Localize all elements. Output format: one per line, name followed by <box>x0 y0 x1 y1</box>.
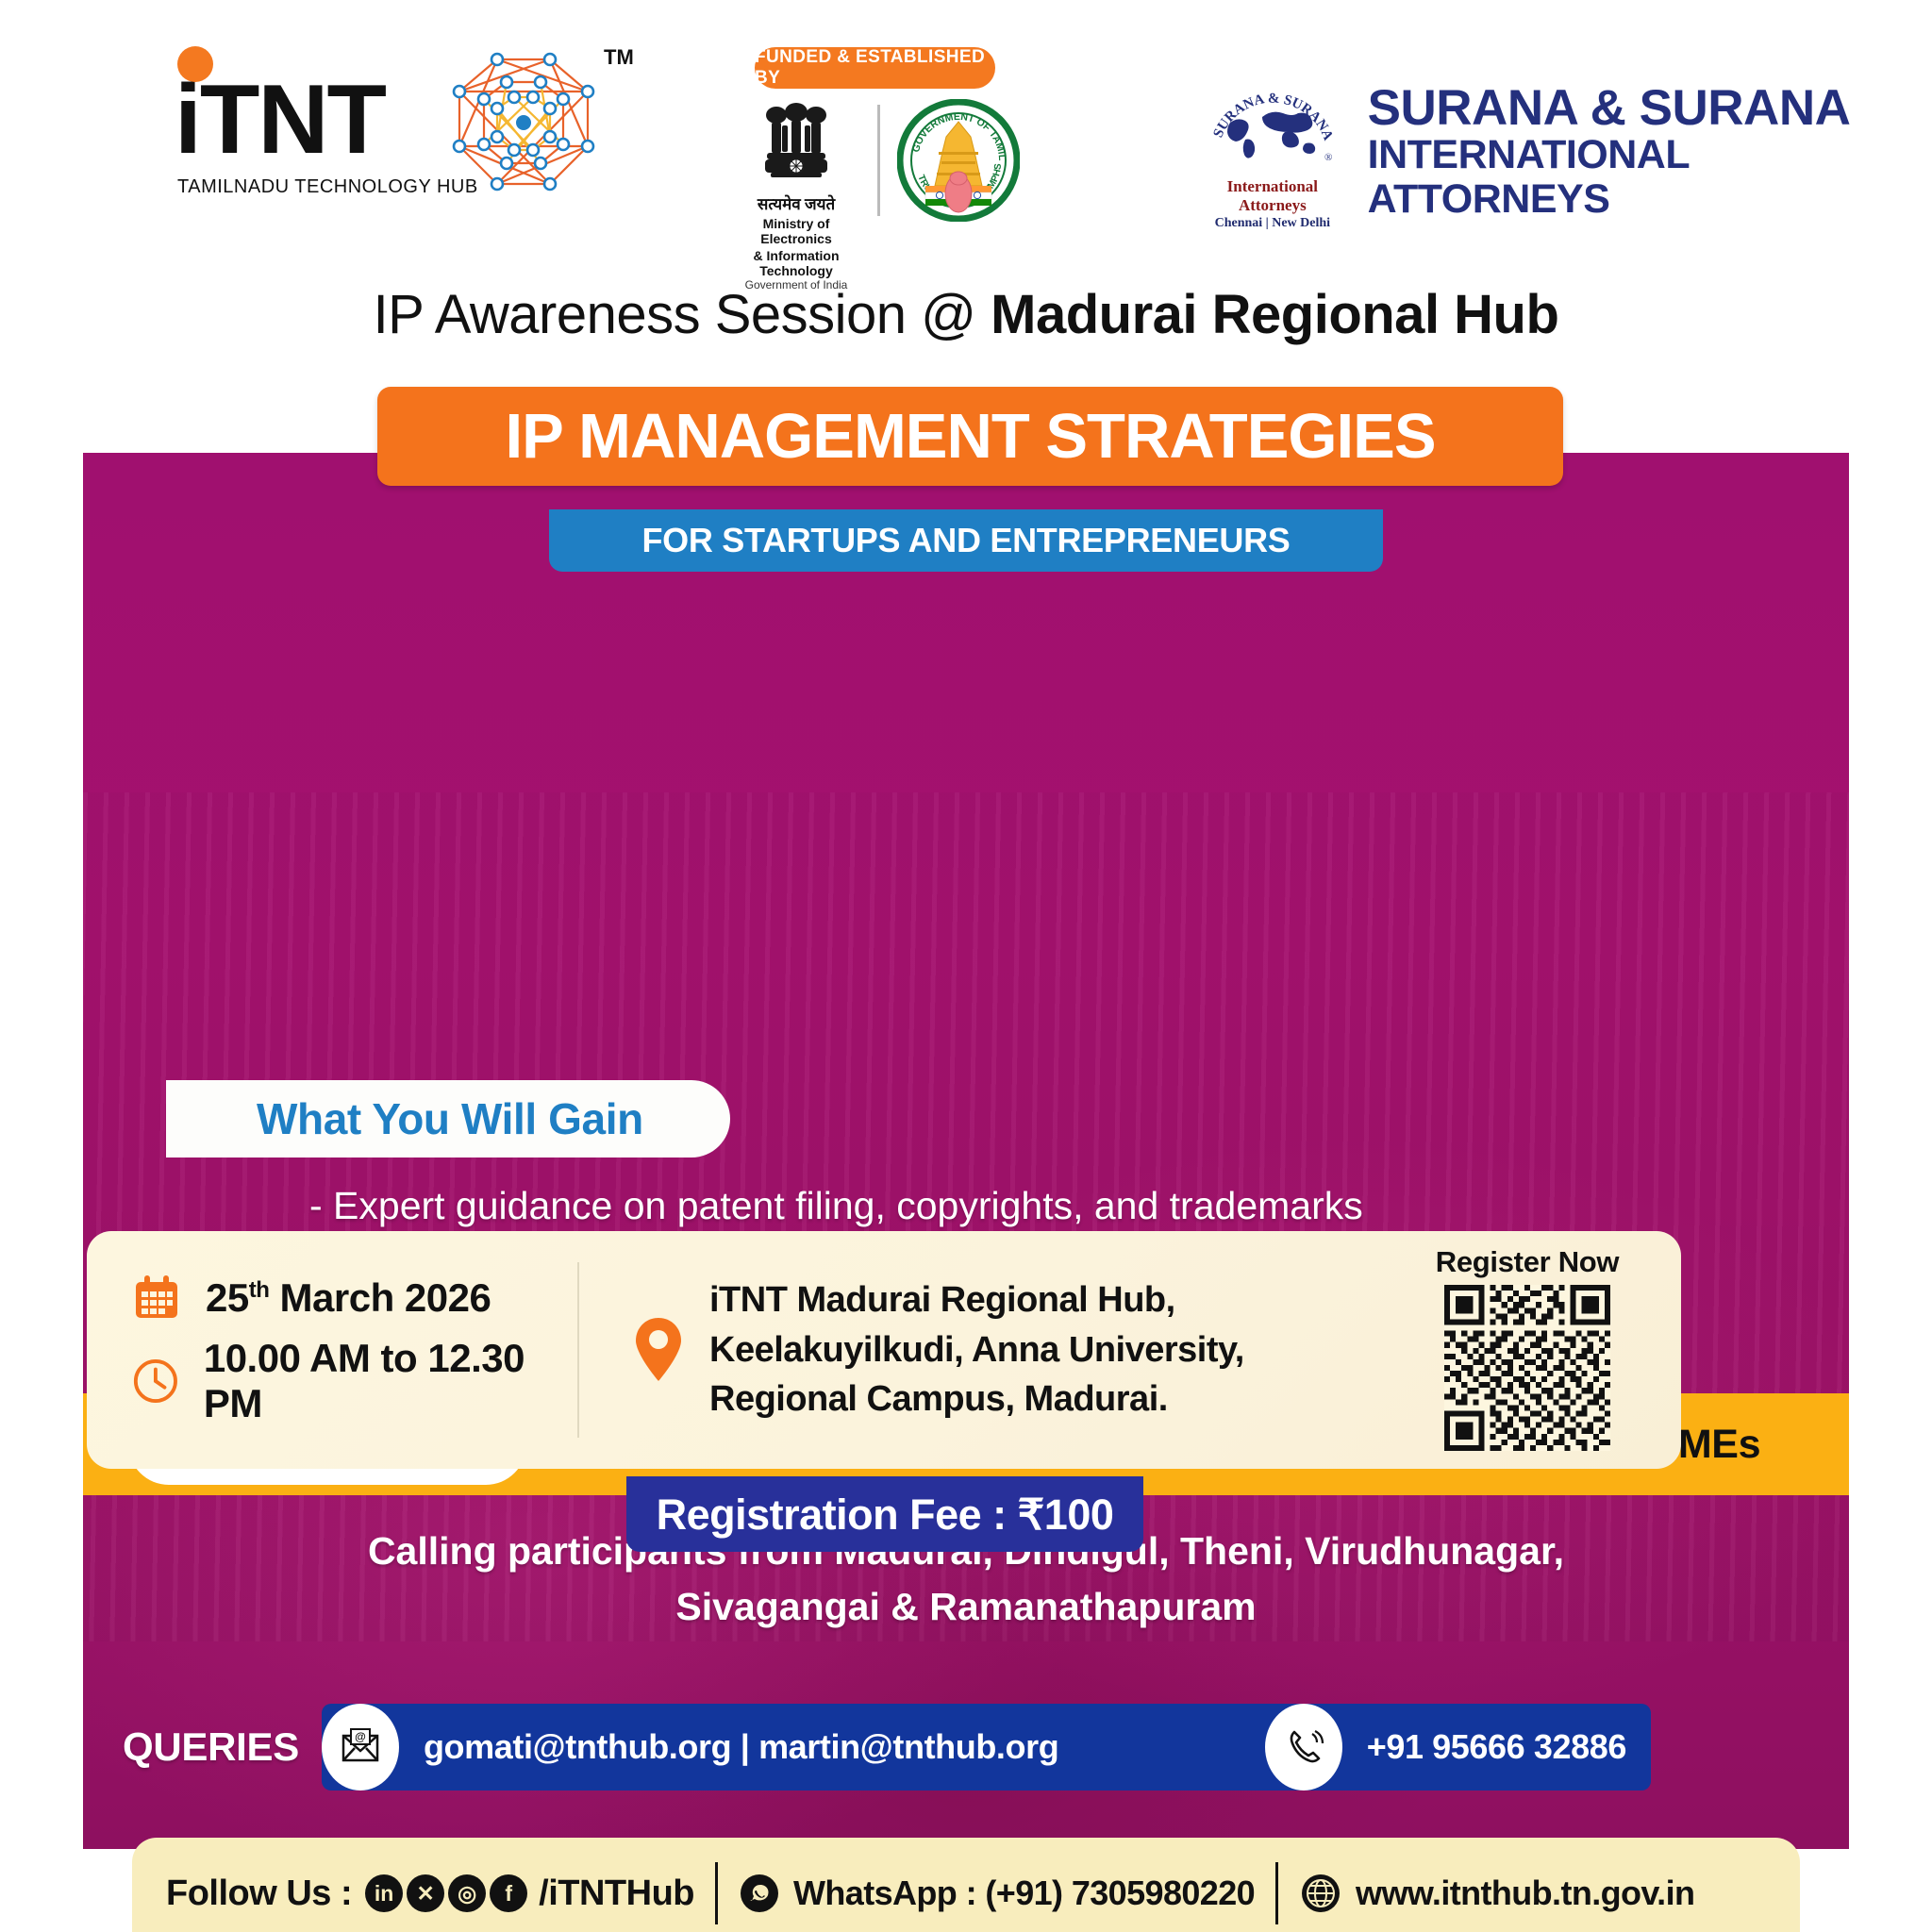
registration-fee-banner: Registration Fee : ₹100 <box>626 1476 1143 1552</box>
facebook-icon[interactable]: f <box>490 1874 527 1912</box>
venue-line-1: iTNT Madurai Regional Hub, <box>709 1275 1244 1324</box>
website-url[interactable]: www.itnthub.tn.gov.in <box>1356 1874 1694 1913</box>
event-details-card: 25th March 2026 10.00 AM to 12.30 PM iTN… <box>87 1231 1681 1469</box>
event-date: 25th March 2026 <box>206 1275 491 1321</box>
event-date-rest: March 2026 <box>269 1275 491 1320</box>
queries-label: QUERIES <box>123 1724 299 1770</box>
event-time: 10.00 AM to 12.30 PM <box>204 1336 577 1426</box>
surana-logo: SURANA & SURANA ® International Attorney… <box>1198 74 1932 231</box>
queries-section: QUERIES @ gomati@tnthub.org | martin@tnt… <box>123 1698 1651 1796</box>
instagram-icon[interactable]: ◎ <box>448 1874 486 1912</box>
queries-phone[interactable]: +91 95666 32886 <box>1367 1727 1626 1767</box>
funded-badge-label: FUNDED & ESTABLISHED BY <box>755 47 995 89</box>
footer-divider <box>715 1862 718 1924</box>
footer-bar: Follow Us : in ✕ ◎ f /iTNTHub WhatsApp :… <box>132 1838 1800 1932</box>
date-row: 25th March 2026 <box>132 1274 577 1323</box>
page-title-bold: Madurai Regional Hub <box>991 284 1558 345</box>
page-title-light: IP Awareness Session @ <box>374 284 991 345</box>
time-row: 10.00 AM to 12.30 PM <box>132 1336 577 1426</box>
whatsapp-icon <box>739 1873 780 1914</box>
clock-icon <box>132 1357 179 1406</box>
calendar-icon <box>132 1274 181 1323</box>
date-time-block: 25th March 2026 10.00 AM to 12.30 PM <box>87 1260 577 1440</box>
follow-us-label: Follow Us : <box>166 1874 352 1914</box>
subheadline-banner: FOR STARTUPS AND ENTREPRENEURS <box>549 509 1383 572</box>
ministry-line-2: & Information Technology <box>726 248 866 278</box>
venue-line-2: Keelakuyilkudi, Anna University, <box>709 1325 1244 1374</box>
government-emblems: सत्यमेव जयते Ministry of Electronics & I… <box>726 99 1028 250</box>
calling-line-2: Sivagangai & Ramanathapuram <box>83 1579 1849 1635</box>
event-date-day: 25 <box>206 1275 249 1320</box>
linkedin-icon[interactable]: in <box>365 1874 403 1912</box>
queries-bar: @ gomati@tnthub.org | martin@tnthub.org … <box>322 1704 1651 1790</box>
list-item: - Expert guidance on patent filing, copy… <box>309 1184 1724 1229</box>
surana-wordmark: SURANA & SURANA INTERNATIONAL ATTORNEYS <box>1368 83 1932 223</box>
what-you-will-gain-pill: What You Will Gain <box>166 1080 730 1158</box>
main-content-panel: What You Will Gain - Expert guidance on … <box>83 453 1849 1849</box>
surana-seal-cities: Chennai | New Delhi <box>1198 216 1347 231</box>
funded-badge: FUNDED & ESTABLISHED BY <box>755 47 995 89</box>
phone-icon <box>1265 1704 1342 1790</box>
venue-line-3: Regional Campus, Madurai. <box>709 1374 1244 1424</box>
itnt-logo-subtitle: TAMILNADU TECHNOLOGY HUB <box>177 176 478 198</box>
email-icon: @ <box>322 1704 399 1790</box>
whatsapp-number[interactable]: WhatsApp : (+91) 7305980220 <box>793 1874 1255 1913</box>
world-map-shape <box>1227 112 1315 158</box>
headline-banner: IP MANAGEMENT STRATEGIES <box>377 387 1563 486</box>
what-you-will-gain-label: What You Will Gain <box>257 1093 643 1144</box>
tamilnadu-state-emblem-icon: GOVERNMENT OF TAMILNADU TRUTH ALONE TRIU… <box>897 99 1020 222</box>
register-block: Register Now <box>1398 1245 1681 1456</box>
itnt-logo-text: iTNT <box>175 65 385 175</box>
social-handle: /iTNTHub <box>539 1874 694 1914</box>
social-icons-group: in ✕ ◎ f <box>365 1874 531 1912</box>
network-center-dot <box>516 115 531 130</box>
india-emblem-block: सत्यमेव जयते Ministry of Electronics & I… <box>726 99 866 292</box>
footer-divider-2 <box>1275 1862 1278 1924</box>
header-logo-strip: iTNT TAMILNADU TECHNOLOGY HUB <box>0 0 1932 283</box>
surana-name-line2: INTERNATIONAL ATTORNEYS <box>1368 133 1932 223</box>
venue-block: iTNT Madurai Regional Hub, Keelakuyilkud… <box>579 1275 1398 1424</box>
event-date-suffix: th <box>249 1277 270 1303</box>
itnt-network-icon <box>439 52 608 208</box>
svg-text:@: @ <box>355 1730 366 1743</box>
qr-code[interactable] <box>1432 1285 1623 1451</box>
registration-fee-text: Registration Fee : ₹100 <box>657 1490 1114 1540</box>
surana-name-line1: SURANA & SURANA <box>1368 83 1932 133</box>
trademark-symbol: TM <box>604 45 634 70</box>
surana-seal: SURANA & SURANA ® International Attorney… <box>1198 74 1347 231</box>
emblem-divider <box>877 105 880 216</box>
svg-text:®: ® <box>1324 152 1332 163</box>
register-now-label: Register Now <box>1398 1245 1657 1279</box>
x-twitter-icon[interactable]: ✕ <box>407 1874 444 1912</box>
headline-text: IP MANAGEMENT STRATEGIES <box>505 400 1435 473</box>
satyameva-jayate-text: सत्यमेव जयते <box>726 192 866 214</box>
queries-emails[interactable]: gomati@tnthub.org | martin@tnthub.org <box>424 1727 1058 1767</box>
subheadline-text: FOR STARTUPS AND ENTREPRENEURS <box>641 521 1290 560</box>
ashoka-lion-capital-icon <box>756 99 837 186</box>
surana-seal-subtitle: International Attorneys <box>1198 177 1347 215</box>
surana-seal-graphic: SURANA & SURANA ® <box>1204 74 1341 177</box>
itnt-wordmark: iTNT <box>175 71 478 169</box>
venue-address: iTNT Madurai Regional Hub, Keelakuyilkud… <box>709 1275 1244 1424</box>
globe-icon <box>1299 1872 1342 1915</box>
tamilnadu-emblem-block: GOVERNMENT OF TAMILNADU TRUTH ALONE TRIU… <box>891 99 1025 226</box>
ministry-line-1: Ministry of Electronics <box>726 216 866 246</box>
itnt-dot-icon <box>177 46 213 82</box>
poster-root: iTNT TAMILNADU TECHNOLOGY HUB <box>0 0 1932 1932</box>
page-title: IP Awareness Session @ Madurai Regional … <box>0 283 1932 346</box>
location-pin-icon <box>632 1315 685 1385</box>
itnt-logo: iTNT TAMILNADU TECHNOLOGY HUB <box>175 71 478 198</box>
